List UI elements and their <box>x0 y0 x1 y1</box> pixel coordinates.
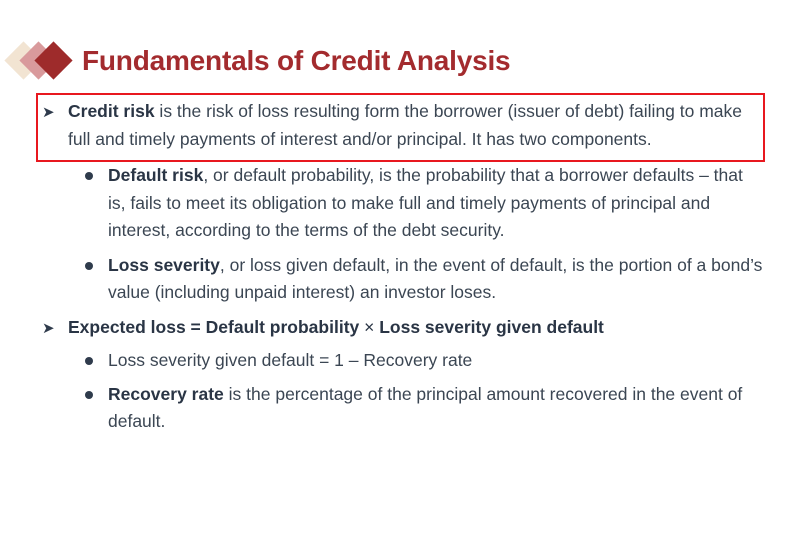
slide-header: Fundamentals of Credit Analysis <box>0 38 510 84</box>
bullet-credit-risk: ➤ Credit risk is the risk of loss result… <box>0 98 811 153</box>
slide-body: ➤ Credit risk is the risk of loss result… <box>0 98 811 436</box>
bullet-lgd-formula-text: Loss severity given default = 1 – Recove… <box>108 350 472 370</box>
bullet-default-risk: Default risk, or default probability, is… <box>0 162 811 245</box>
bullet-default-risk-text: , or default probability, is the probabi… <box>108 165 743 240</box>
slide: Fundamentals of Credit Analysis ➤ Credit… <box>0 0 811 533</box>
bullet-recovery-rate-lead: Recovery rate <box>108 384 224 404</box>
dot-bullet-icon <box>85 262 93 270</box>
bullet-loss-severity: Loss severity, or loss given default, in… <box>0 252 811 307</box>
bullet-credit-risk-lead: Credit risk <box>68 101 155 121</box>
bullet-lgd-formula: Loss severity given default = 1 – Recove… <box>0 347 811 375</box>
bullet-credit-risk-text: is the risk of loss resulting form the b… <box>68 101 742 149</box>
bullet-expected-loss: ➤ Expected loss = Default probability × … <box>0 314 811 342</box>
arrow-bullet-icon: ➤ <box>42 99 55 127</box>
page-title: Fundamentals of Credit Analysis <box>82 47 510 75</box>
diamond-decoration-icon <box>10 39 78 83</box>
arrow-bullet-icon: ➤ <box>42 315 55 343</box>
dot-bullet-icon <box>85 357 93 365</box>
multiplication-sign: × <box>364 317 374 337</box>
dot-bullet-icon <box>85 391 93 399</box>
expected-loss-part-1: Expected loss = Default probability <box>68 317 364 337</box>
bullet-loss-severity-lead: Loss severity <box>108 255 220 275</box>
bullet-recovery-rate: Recovery rate is the percentage of the p… <box>0 381 811 436</box>
bullet-default-risk-lead: Default risk <box>108 165 203 185</box>
dot-bullet-icon <box>85 172 93 180</box>
expected-loss-part-2: Loss severity given default <box>374 317 604 337</box>
